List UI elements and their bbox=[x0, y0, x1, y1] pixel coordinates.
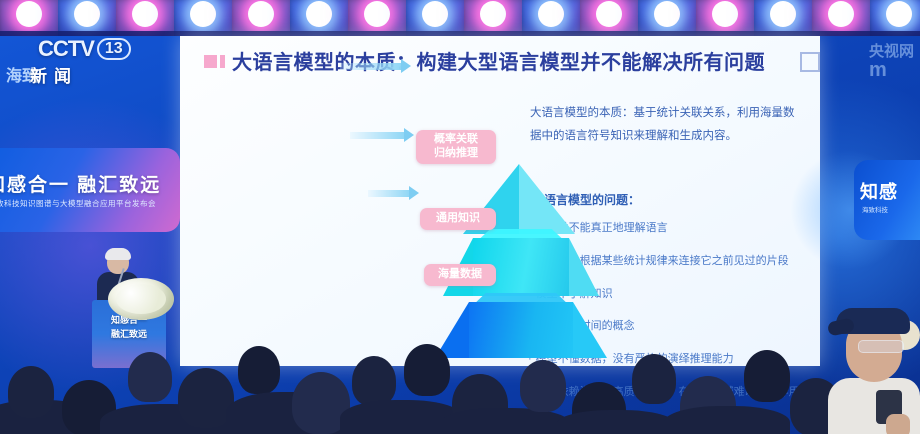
lamp-bulb-icon bbox=[654, 1, 680, 27]
title-marker-icon bbox=[220, 55, 225, 68]
pyramid-tier-apex-right-face bbox=[519, 164, 575, 234]
slide-title-text: 大语言模型的本质：构建大型语言模型并不能解决所有问题 bbox=[232, 52, 765, 74]
speaker-hair bbox=[105, 248, 131, 260]
lamp-bulb-icon bbox=[422, 1, 448, 27]
eyeglasses-icon bbox=[858, 340, 904, 353]
lamp-bulb-icon bbox=[364, 1, 390, 27]
broadcast-screenshot: 大语言模型的本质：构建大型语言模型并不能解决所有问题 大语言模型的本质：基于统计… bbox=[0, 0, 920, 434]
pyramid-tier-base bbox=[435, 302, 607, 358]
cctv-logo: CCTV13 bbox=[38, 36, 131, 62]
audience-head bbox=[8, 366, 54, 418]
slide-title: 大语言模型的本质：构建大型语言模型并不能解决所有问题 bbox=[204, 46, 810, 75]
capman-hand bbox=[886, 414, 910, 434]
lamp-bulb-icon bbox=[828, 1, 854, 27]
audience-shoulders bbox=[664, 406, 790, 434]
audience-head bbox=[744, 350, 790, 402]
pyramid-label-apex-line2: 归纳推理 bbox=[425, 147, 487, 161]
watermark-line1: 央视网 bbox=[869, 44, 914, 60]
left-banner-subtitle: 海致科技知识图谱与大模型融合应用平台发布会 bbox=[0, 198, 156, 209]
presentation-slide: 大语言模型的本质：构建大型语言模型并不能解决所有问题 大语言模型的本质：基于统计… bbox=[180, 36, 820, 366]
audience-head bbox=[404, 344, 450, 396]
audience-shoulders bbox=[440, 408, 570, 434]
pyramid-tier-base-front-face bbox=[469, 302, 573, 358]
flower-arrangement bbox=[108, 278, 174, 320]
lamp-bulb-icon bbox=[480, 1, 506, 27]
lamp-bulb-icon bbox=[770, 1, 796, 27]
watermark: 央视网 m bbox=[869, 44, 914, 81]
right-banner-subtitle: 海致科技 bbox=[862, 204, 888, 214]
arrow-to-middle-label-icon bbox=[350, 132, 405, 139]
audience-head bbox=[352, 356, 396, 406]
left-banner-headline: 知感合一 融汇致远 bbox=[0, 170, 161, 197]
lamp-bulb-icon bbox=[306, 1, 332, 27]
audience-head bbox=[632, 354, 676, 404]
title-marker-icon bbox=[204, 55, 217, 68]
lamp-bulb-icon bbox=[74, 1, 100, 27]
pyramid-label-apex: 概率关联 归纳推理 bbox=[416, 130, 496, 164]
audience-shoulders bbox=[556, 410, 676, 434]
audience-head bbox=[128, 352, 172, 402]
right-banner: 知感 海致科技 bbox=[854, 160, 920, 240]
watermark-box-icon bbox=[800, 52, 820, 72]
pyramid-tier-middle-right-face bbox=[569, 238, 599, 296]
cctv-logo-text: CCTV bbox=[38, 36, 94, 61]
pyramid-label-base: 海量数据 bbox=[424, 264, 496, 286]
audience-head bbox=[238, 346, 280, 394]
pyramid-tier-base-right-face bbox=[573, 302, 607, 358]
right-banner-headline: 知感 bbox=[860, 178, 898, 204]
program-label: 新闻 bbox=[30, 62, 78, 87]
slide-lead-paragraph: 大语言模型的本质：基于统计关联关系，利用海量数据中的语言符号知识来理解和生成内容… bbox=[530, 102, 805, 148]
lamp-bulb-icon bbox=[248, 1, 274, 27]
arrow-to-apex-label-icon bbox=[340, 63, 402, 70]
lamp-bulb-icon bbox=[132, 1, 158, 27]
lamp-bulb-icon bbox=[16, 1, 42, 27]
lamp-bulb-icon bbox=[712, 1, 738, 27]
watermark-line2: m bbox=[869, 60, 914, 81]
audience-head bbox=[520, 360, 566, 412]
left-banner: 知感合一 融汇致远 海致科技知识图谱与大模型融合应用平台发布会 bbox=[0, 148, 180, 232]
stage-light-truss bbox=[0, 0, 920, 36]
lamp-bulb-icon bbox=[190, 1, 216, 27]
audience-member-with-cap bbox=[828, 306, 920, 434]
podium-sign-line2: 融汇致远 bbox=[102, 328, 156, 342]
lamp-bulb-icon bbox=[886, 1, 912, 27]
arrow-to-base-label-icon bbox=[368, 190, 410, 197]
pyramid-label-apex-line1: 概率关联 bbox=[425, 133, 487, 147]
pyramid-label-middle: 通用知识 bbox=[420, 208, 496, 230]
pyramid-diagram bbox=[435, 164, 607, 359]
lamp-bulb-icon bbox=[538, 1, 564, 27]
lamp-bulb-icon bbox=[596, 1, 622, 27]
cctv-channel-number: 13 bbox=[97, 38, 131, 60]
